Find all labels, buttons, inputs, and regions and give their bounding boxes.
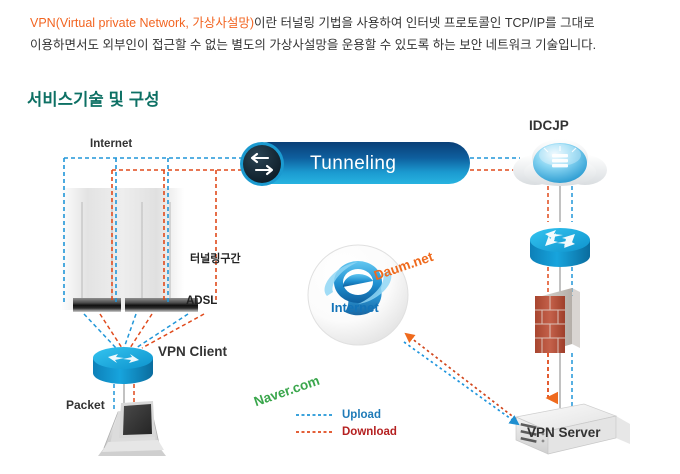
tunneling-icon-circle bbox=[240, 142, 284, 186]
idc-cloud-icon bbox=[513, 139, 607, 186]
label-vpn-server: VPN Server bbox=[527, 425, 601, 440]
intro-highlight: VPN(Virtual private Network, 가상사설망) bbox=[30, 16, 254, 30]
section-title: 서비스기술 및 구성 bbox=[27, 86, 160, 110]
arrow-upload-to-server bbox=[404, 342, 518, 424]
legend-label-upload: Upload bbox=[342, 409, 381, 421]
tunnel-zone-block bbox=[60, 188, 184, 310]
arrow-download-to-internet bbox=[406, 334, 516, 419]
laptop-icon bbox=[98, 401, 166, 456]
label-packet: Packet bbox=[66, 398, 105, 412]
label-adsl: ADSL bbox=[186, 295, 217, 307]
ie-internet-circle bbox=[308, 245, 408, 345]
idc-router-icon bbox=[530, 228, 590, 267]
intro-line1-rest: 이란 터널링 기법을 사용하여 인터넷 프로토콜인 TCP/IP를 그대로 bbox=[254, 16, 595, 30]
label-tunneling: Tunneling bbox=[310, 153, 396, 175]
client-fan-download bbox=[100, 314, 204, 348]
label-internet: Internet bbox=[90, 138, 132, 150]
firewall-icon bbox=[535, 288, 580, 353]
vpn-client-router-icon bbox=[93, 347, 153, 384]
label-vpn-client: VPN Client bbox=[158, 344, 227, 359]
label-idcjp: IDCJP bbox=[529, 118, 569, 133]
label-tunnel-zone: 터널링구간 bbox=[190, 250, 241, 266]
network-diagram: Internet 터널링구간 ADSL VPN Client Packet ID… bbox=[0, 110, 680, 474]
intro-line2: 이용하면서도 외부인이 접근할 수 없는 별도의 가상사설망을 운용할 수 있도… bbox=[30, 38, 596, 52]
label-ie-internet: Internet bbox=[331, 300, 379, 315]
page-root: VPN(Virtual private Network, 가상사설망)이란 터널… bbox=[0, 0, 680, 474]
intro-paragraph: VPN(Virtual private Network, 가상사설망)이란 터널… bbox=[30, 12, 640, 56]
legend-label-download: Download bbox=[342, 426, 397, 438]
